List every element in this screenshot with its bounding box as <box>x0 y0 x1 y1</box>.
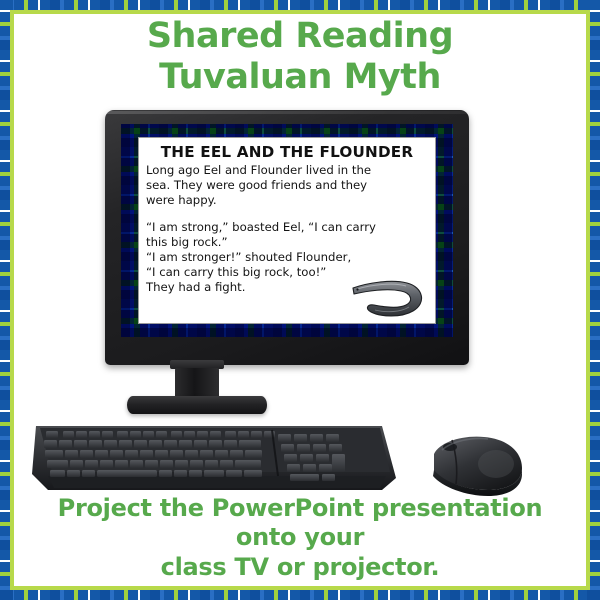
slide-p2-line-1: “I am strong,” boasted Eel, “I can carry <box>146 220 428 235</box>
slide-p1-line-3: were happy. <box>146 193 428 208</box>
slide-p2-line-2: this big rock.” <box>146 235 428 250</box>
computer-monitor: THE EEL AND THE FLOUNDER Long ago Eel an… <box>105 110 469 365</box>
slide-p1-line-2: sea. They were good friends and they <box>146 178 428 193</box>
slide-p1-line-1: Long ago Eel and Flounder lived in the <box>146 163 428 178</box>
border-band-bottom <box>0 587 600 600</box>
slide-paragraph-1: Long ago Eel and Flounder lived in the s… <box>146 163 428 209</box>
poster-page: Shared Reading Tuvaluan Myth THE EEL AND… <box>0 0 600 600</box>
computer-mouse[interactable] <box>422 430 530 498</box>
monitor-screen: THE EEL AND THE FLOUNDER Long ago Eel an… <box>121 124 453 337</box>
computer-keyboard[interactable] <box>30 416 400 500</box>
border-band-left <box>0 0 13 600</box>
content-area: Shared Reading Tuvaluan Myth THE EEL AND… <box>14 14 586 586</box>
slide-title: THE EEL AND THE FLOUNDER <box>139 143 435 161</box>
page-title: Shared Reading Tuvaluan Myth <box>14 16 586 99</box>
monitor-stand-base <box>127 396 267 414</box>
page-title-line-1: Shared Reading <box>14 16 586 57</box>
slide-body: Long ago Eel and Flounder lived in the s… <box>139 163 435 296</box>
eel-illustration <box>351 277 429 319</box>
border-band-top <box>0 0 600 13</box>
slide-p2-line-3: “I am stronger!” shouted Flounder, <box>146 250 428 265</box>
computer-scene: THE EEL AND THE FLOUNDER Long ago Eel an… <box>14 104 586 504</box>
caption-line-2: class TV or projector. <box>28 553 572 582</box>
instruction-caption: Project the PowerPoint presentation onto… <box>28 494 572 582</box>
caption-line-1: Project the PowerPoint presentation onto… <box>28 494 572 553</box>
border-band-right <box>587 0 600 600</box>
presentation-slide: THE EEL AND THE FLOUNDER Long ago Eel an… <box>121 124 453 337</box>
page-title-line-2: Tuvaluan Myth <box>14 57 586 98</box>
slide-card: THE EEL AND THE FLOUNDER Long ago Eel an… <box>138 137 436 324</box>
